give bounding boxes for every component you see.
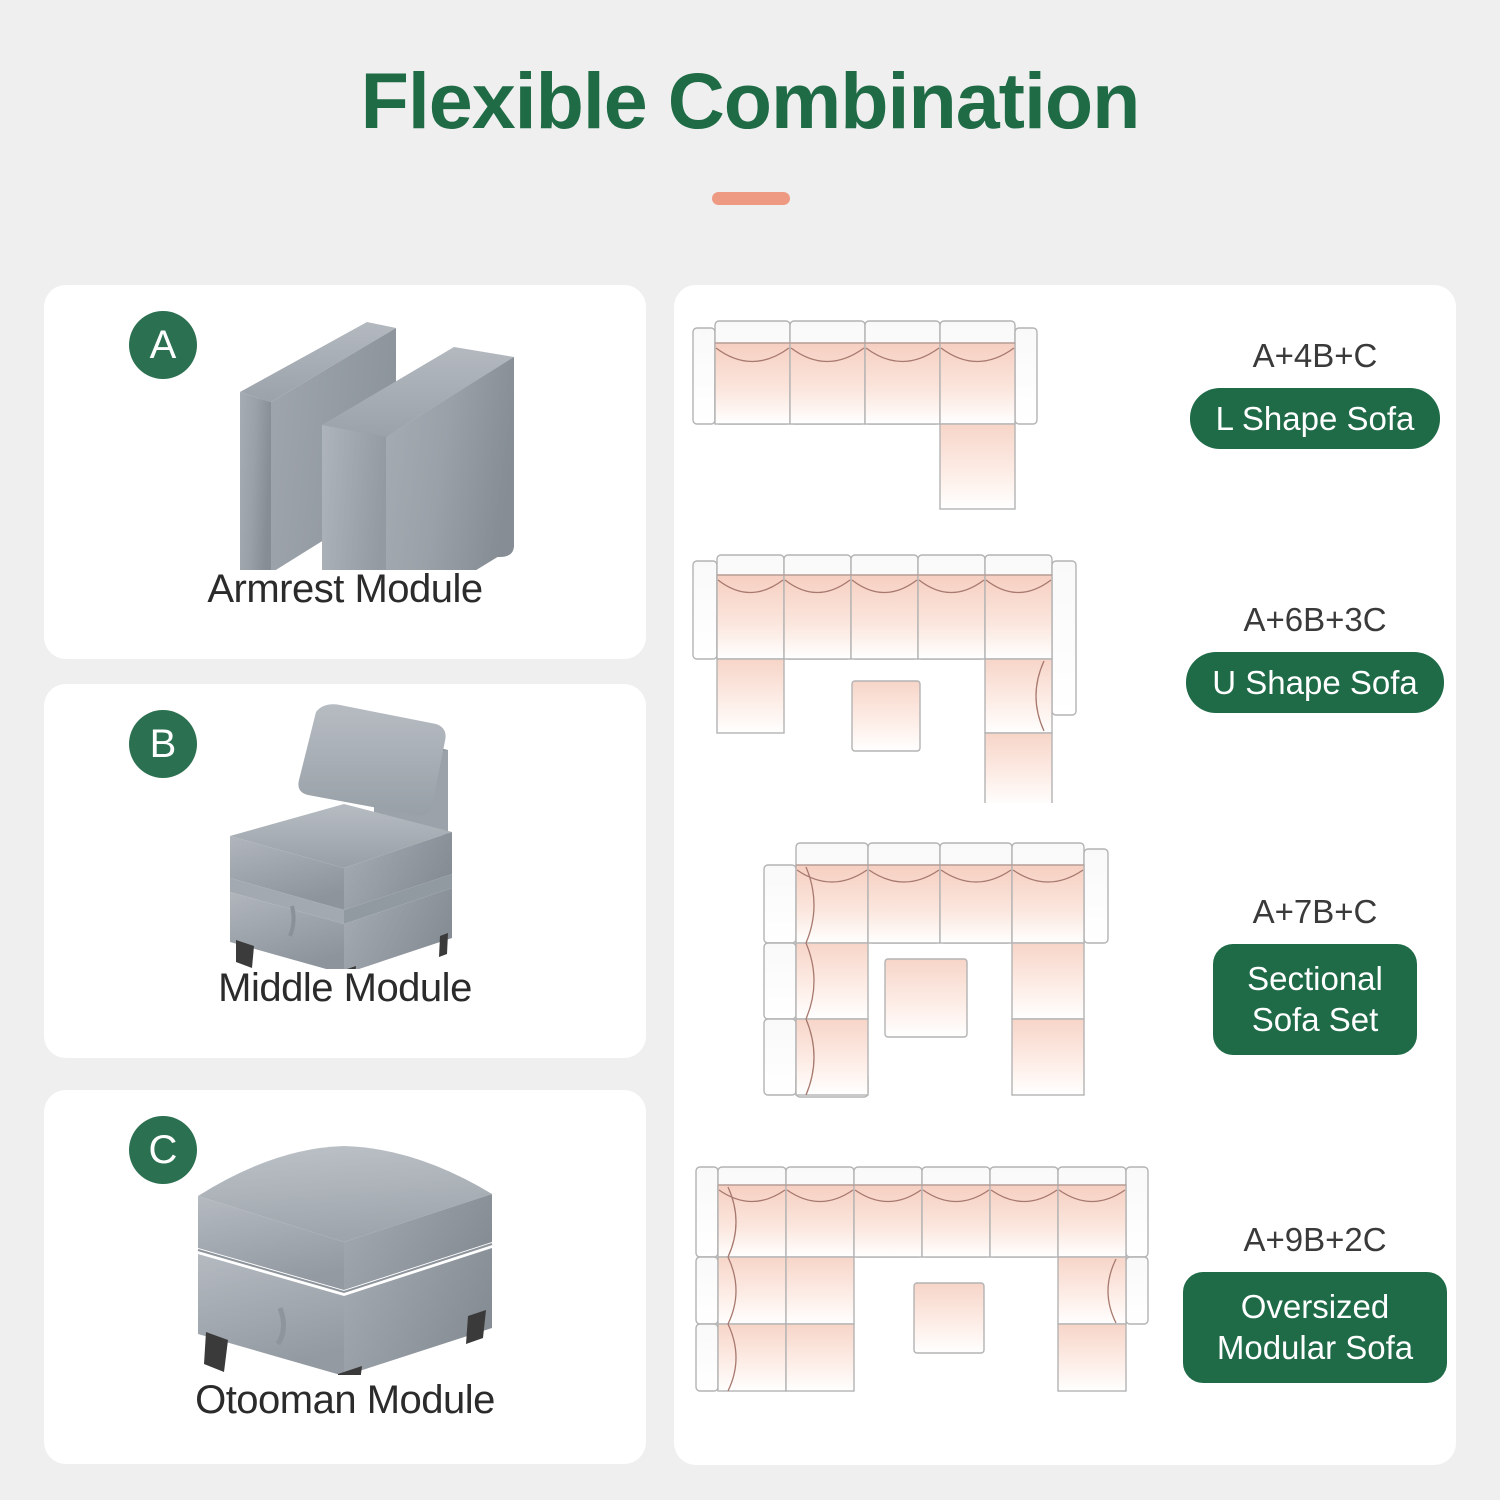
u-shape-sofa-diagram [692,553,1162,808]
combination-text-l-shape: A+4B+C L Shape Sofa [1174,337,1456,449]
combination-row-sectional[interactable]: A+7B+C Sectional Sofa Set [674,841,1456,1141]
l-shape-sofa-diagram [692,313,1162,548]
module-card-armrest[interactable]: A [44,285,646,659]
module-label-middle: Middle Module [44,966,646,1011]
armrest-module-photo [44,285,646,570]
module-label-armrest: Armrest Module [44,567,646,612]
module-card-ottoman[interactable]: C [44,1090,646,1464]
combinations-card: A+4B+C L Shape Sofa [674,285,1456,1465]
combination-code-l-shape: A+4B+C [1174,337,1456,375]
page-title: Flexible Combination [0,56,1500,147]
ottoman-module-photo [44,1090,646,1375]
combination-text-sectional: A+7B+C Sectional Sofa Set [1174,893,1456,1055]
combination-row-u-shape[interactable]: A+6B+3C U Shape Sofa [674,553,1456,823]
combination-pill-u-shape[interactable]: U Shape Sofa [1186,652,1443,713]
title-underline-accent [712,192,790,205]
combination-pill-l-shape[interactable]: L Shape Sofa [1190,388,1441,449]
combination-row-oversized[interactable]: A+9B+2C Oversized Modular Sofa [674,1165,1456,1455]
combination-row-l-shape[interactable]: A+4B+C L Shape Sofa [674,313,1456,571]
module-card-middle[interactable]: B [44,684,646,1058]
oversized-modular-sofa-diagram [694,1165,1174,1440]
module-label-ottoman: Otooman Module [44,1378,646,1423]
page-header: Flexible Combination [0,0,1500,255]
combination-text-u-shape: A+6B+3C U Shape Sofa [1174,601,1456,713]
combination-code-oversized: A+9B+2C [1174,1221,1456,1259]
middle-module-photo [44,684,646,969]
sectional-sofa-set-diagram [762,841,1162,1126]
combination-pill-sectional[interactable]: Sectional Sofa Set [1213,944,1417,1055]
combination-code-sectional: A+7B+C [1174,893,1456,931]
combination-code-u-shape: A+6B+3C [1174,601,1456,639]
combination-pill-oversized[interactable]: Oversized Modular Sofa [1183,1272,1447,1383]
combination-text-oversized: A+9B+2C Oversized Modular Sofa [1174,1221,1456,1383]
